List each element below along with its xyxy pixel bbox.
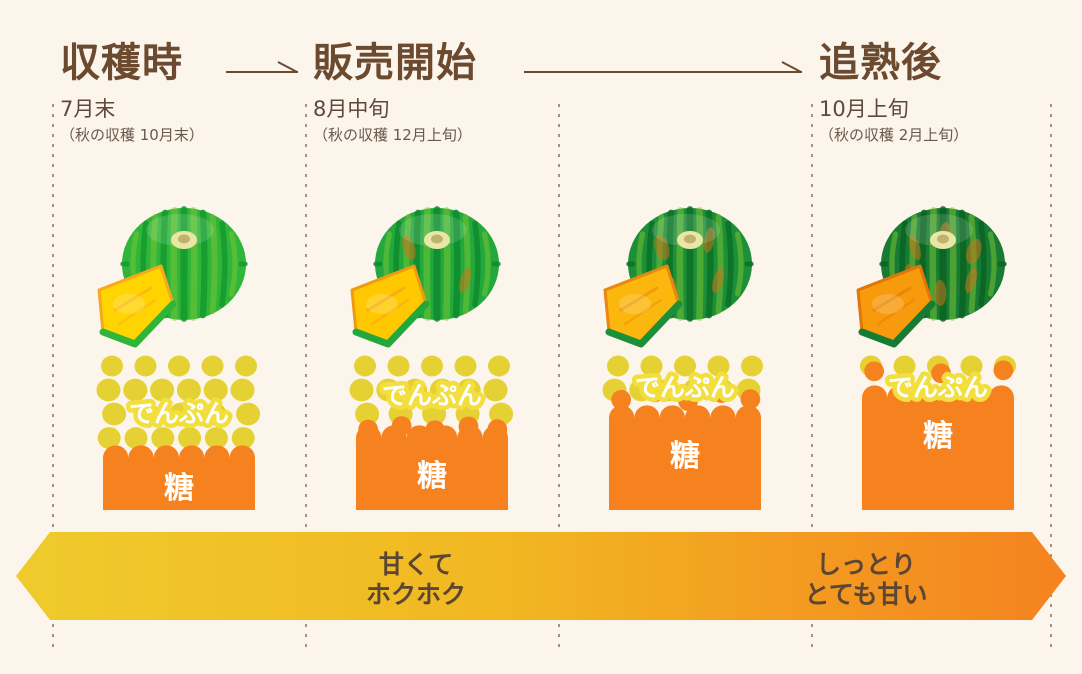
- arrow-sale-to-ripened: [524, 60, 802, 84]
- starch-sugar-diagram-sale-start: でんぷんでんぷん糖: [342, 350, 522, 510]
- starch-label-mid-ripen: でんぷん: [634, 373, 734, 402]
- pumpkin-illustration-harvest: [89, 192, 269, 352]
- arrow-head-icon: [276, 60, 298, 84]
- column-date-after-ripening: 10月上旬: [819, 96, 1072, 122]
- pumpkin-illustration-mid-ripen: [595, 192, 775, 352]
- sugar-label-sale-start: 糖: [417, 459, 447, 494]
- column-date-harvest: 7月末: [60, 96, 313, 122]
- sugar-label-after-ripening: 糖: [923, 419, 953, 454]
- starch-label-after-ripening: でんぷん: [887, 373, 987, 402]
- arrow-shaft: [524, 71, 802, 73]
- column-header-after-ripening: 追熟後10月上旬（秋の収穫 2月上旬）: [819, 40, 1072, 145]
- sugar-label-harvest: 糖: [164, 471, 194, 506]
- arrow-head-icon: [780, 60, 802, 84]
- starch-sugar-diagram-mid-ripen: でんぷんでんぷん糖: [595, 350, 775, 510]
- starch-sugar-diagram-harvest: でんぷんでんぷん糖: [89, 350, 269, 510]
- column-subnote-sale-start: （秋の収穫 12月上旬）: [313, 125, 566, 145]
- starch-label-sale-start: でんぷん: [381, 381, 481, 410]
- column-date-sale-start: 8月中旬: [313, 96, 566, 122]
- starch-label-harvest: でんぷん: [128, 399, 228, 428]
- infographic-canvas: 収穫時7月末（秋の収穫 10月末）販売開始8月中旬（秋の収穫 12月上旬）追熟後…: [0, 0, 1082, 674]
- column-header-harvest: 収穫時7月末（秋の収穫 10月末）: [60, 40, 313, 145]
- column-title-after-ripening: 追熟後: [819, 40, 1072, 86]
- sugar-label-mid-ripen: 糖: [670, 439, 700, 474]
- column-header-sale-start: 販売開始8月中旬（秋の収穫 12月上旬）: [313, 40, 566, 145]
- band-label-sweet-fluffy: 甘くて ホクホク: [306, 550, 526, 610]
- arrow-harvest-to-sale: [226, 60, 298, 84]
- column-subnote-harvest: （秋の収穫 10月末）: [60, 125, 313, 145]
- sweetness-band: 甘くて ホクホクしっとり とても甘い: [16, 528, 1066, 624]
- starch-sugar-diagram-after-ripening: でんぷんでんぷん糖: [848, 350, 1028, 510]
- pumpkin-illustration-sale-start: [342, 192, 522, 352]
- column-subnote-after-ripening: （秋の収穫 2月上旬）: [819, 125, 1072, 145]
- pumpkin-illustration-after-ripening: [848, 192, 1028, 352]
- band-label-moist-verysweet: しっとり とても甘い: [756, 550, 976, 610]
